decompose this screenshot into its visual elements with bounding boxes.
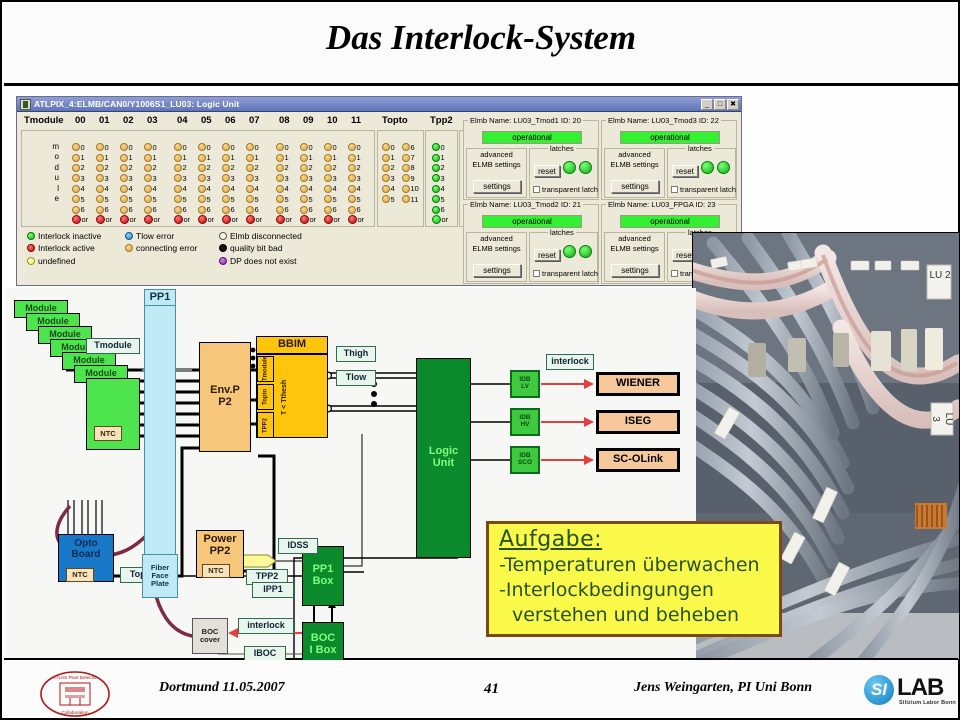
status-dot-label: 1	[105, 153, 109, 162]
status-dot[interactable]	[96, 195, 104, 203]
status-dot[interactable]	[198, 143, 206, 151]
status-dot[interactable]	[382, 164, 390, 172]
status-dot[interactable]	[402, 143, 410, 151]
status-dot-cell[interactable]: 4	[144, 184, 166, 194]
or-indicator[interactable]: or	[432, 215, 448, 224]
status-dot[interactable]	[174, 164, 182, 172]
status-dot-label: 6	[129, 205, 133, 214]
status-dot-cell[interactable]: 5	[276, 194, 298, 204]
status-dot-cell[interactable]: 0	[324, 142, 346, 152]
tmodule-or-indicator[interactable]: or	[198, 215, 214, 224]
status-dot[interactable]	[174, 154, 182, 162]
status-dot-cell[interactable]: 5	[324, 194, 346, 204]
status-dot[interactable]	[324, 206, 332, 214]
status-dot[interactable]	[348, 185, 356, 193]
status-dot-cell[interactable]: 2	[198, 163, 220, 173]
status-dot-label: 9	[411, 174, 415, 183]
status-dot-cell[interactable]: 2	[120, 163, 142, 173]
status-dot-cell[interactable]: 4	[222, 184, 244, 194]
status-dot-cell[interactable]: 6	[198, 204, 220, 214]
status-dot[interactable]	[348, 206, 356, 214]
aufgabe-line-2: -Interlockbedingungen	[499, 578, 771, 603]
status-dot-cell[interactable]: 1	[96, 152, 118, 162]
status-dot-cell[interactable]: 6	[174, 204, 196, 214]
status-dot-cell[interactable]: 5	[198, 194, 220, 204]
status-dot-cell[interactable]: 4	[324, 184, 346, 194]
status-dot[interactable]	[402, 164, 410, 172]
latch-leds	[563, 245, 592, 258]
status-dot[interactable]	[276, 215, 285, 224]
status-dot[interactable]	[300, 143, 308, 151]
status-dot[interactable]	[246, 143, 254, 151]
tmodule-or-indicator[interactable]: or	[324, 215, 340, 224]
status-dot-cell[interactable]: 3	[276, 173, 298, 183]
status-dot-cell[interactable]: 10	[402, 184, 424, 194]
status-dot[interactable]	[324, 143, 332, 151]
status-dot-cell[interactable]: 8	[402, 163, 424, 173]
status-dot[interactable]	[222, 215, 231, 224]
status-dot-cell[interactable]: 3	[144, 173, 166, 183]
status-dot[interactable]	[276, 206, 284, 214]
status-dot-cell[interactable]: 2	[96, 163, 118, 173]
status-dot[interactable]	[96, 185, 104, 193]
status-dot[interactable]	[72, 154, 80, 162]
reset-button[interactable]: reset	[534, 165, 560, 177]
advanced-label-line2: ELMB settings	[467, 244, 526, 253]
status-dot-cell[interactable]: 1	[198, 152, 220, 162]
status-dot[interactable]	[276, 185, 284, 193]
status-dot[interactable]	[276, 164, 284, 172]
ffp-label-3: Plate	[151, 580, 169, 588]
status-dot-cell[interactable]: 3	[348, 173, 370, 183]
status-dot-cell[interactable]: 1	[324, 152, 346, 162]
status-dot[interactable]	[144, 164, 152, 172]
legend-label: Elmb disconnected	[230, 231, 302, 241]
status-dot-cell[interactable]: 2	[300, 163, 322, 173]
status-dot[interactable]	[120, 215, 129, 224]
status-dot[interactable]	[382, 143, 390, 151]
status-dot-cell[interactable]: 4	[276, 184, 298, 194]
bbim-threshold-label: T < Tthesh	[276, 356, 293, 438]
status-dot-label: 6	[441, 205, 445, 214]
status-dot[interactable]	[432, 154, 440, 162]
status-dot-cell[interactable]: 0	[276, 142, 298, 152]
status-dot[interactable]	[432, 174, 440, 182]
status-dot[interactable]	[246, 164, 254, 172]
status-dot-cell[interactable]: 3	[96, 173, 118, 183]
status-dot[interactable]	[222, 164, 230, 172]
settings-button[interactable]: settings	[611, 264, 659, 277]
status-dot[interactable]	[300, 195, 308, 203]
status-dot-cell[interactable]: 4	[72, 184, 94, 194]
status-dot-cell[interactable]: 4	[174, 184, 196, 194]
transparent-latch-checkbox[interactable]	[533, 270, 540, 277]
status-dot-cell[interactable]: 0	[174, 142, 196, 152]
status-dot-cell[interactable]: 3	[300, 173, 322, 183]
advanced-label-line1: advanced	[605, 234, 664, 243]
status-dot[interactable]	[120, 195, 128, 203]
status-dot[interactable]	[300, 206, 308, 214]
status-dot[interactable]	[222, 174, 230, 182]
status-dot[interactable]	[120, 164, 128, 172]
status-dot-cell[interactable]: 1	[300, 152, 322, 162]
status-dot[interactable]	[198, 185, 206, 193]
minimize-icon[interactable]: _	[701, 99, 713, 110]
status-dot[interactable]	[120, 185, 128, 193]
status-dot[interactable]	[432, 185, 440, 193]
status-dot-label: 1	[285, 153, 289, 162]
latch-led[interactable]	[579, 161, 592, 174]
tmodule-or-indicator[interactable]: or	[276, 215, 292, 224]
status-dot-cell[interactable]: 2	[144, 163, 166, 173]
status-dot-cell[interactable]: 5	[120, 194, 142, 204]
status-dot[interactable]	[348, 154, 356, 162]
aufgabe-title: Aufgabe:	[499, 527, 771, 553]
status-dot[interactable]	[276, 154, 284, 162]
status-dot-cell[interactable]: 1	[120, 152, 142, 162]
latch-led[interactable]	[717, 161, 730, 174]
pp1-box: PP1 Box	[302, 546, 344, 606]
status-dot[interactable]	[120, 154, 128, 162]
status-dot[interactable]	[222, 154, 230, 162]
settings-button[interactable]: settings	[611, 180, 659, 193]
status-dot-cell[interactable]: 0	[198, 142, 220, 152]
reset-button[interactable]: reset	[534, 249, 560, 261]
status-dot-cell[interactable]: 4	[246, 184, 268, 194]
status-dot[interactable]	[402, 174, 410, 182]
transparent-latch-checkbox[interactable]	[671, 270, 678, 277]
status-dot-cell[interactable]: 1	[432, 152, 454, 162]
status-dot[interactable]	[198, 206, 206, 214]
footer-date: Dortmund 11.05.2007	[159, 680, 285, 696]
status-dot[interactable]	[198, 154, 206, 162]
footer-page-number: 41	[484, 681, 499, 698]
status-dot[interactable]	[96, 164, 104, 172]
status-dot[interactable]	[432, 195, 440, 203]
status-dot-cell[interactable]: 3	[72, 173, 94, 183]
status-dot-cell[interactable]: 2	[276, 163, 298, 173]
window-controls[interactable]: _ □ ✖	[701, 99, 739, 110]
status-dot[interactable]	[120, 206, 128, 214]
status-dot[interactable]	[324, 174, 332, 182]
status-dot[interactable]	[324, 154, 332, 162]
status-dot-cell[interactable]: 6	[246, 204, 268, 214]
status-dot[interactable]	[222, 143, 230, 151]
status-dot[interactable]	[246, 185, 254, 193]
status-dot[interactable]	[120, 174, 128, 182]
tmodule-or-indicator[interactable]: or	[72, 215, 88, 224]
status-dot[interactable]	[144, 195, 152, 203]
status-dot-cell[interactable]: 5	[144, 194, 166, 204]
status-dot[interactable]	[348, 195, 356, 203]
status-dot-cell[interactable]: 2	[348, 163, 370, 173]
status-dot-cell[interactable]: 6	[222, 204, 244, 214]
status-dot-cell[interactable]: 3	[198, 173, 220, 183]
status-dot[interactable]	[432, 215, 441, 224]
status-dot-cell[interactable]: 1	[246, 152, 268, 162]
status-dot[interactable]	[382, 154, 390, 162]
status-dot-cell[interactable]: 5	[432, 194, 454, 204]
status-dot-label: 0	[81, 143, 85, 152]
status-dot[interactable]	[222, 185, 230, 193]
status-dot-cell[interactable]: 3	[432, 173, 454, 183]
row-letter: l	[48, 184, 59, 194]
status-dot[interactable]	[72, 206, 80, 214]
status-dot-cell[interactable]: 5	[222, 194, 244, 204]
status-dot-label: 4	[255, 184, 259, 193]
status-dot[interactable]	[432, 143, 440, 151]
settings-button[interactable]: settings	[473, 180, 521, 193]
transparent-latch-row[interactable]: transparent latch	[671, 185, 736, 194]
status-dot[interactable]	[174, 174, 182, 182]
status-dot[interactable]	[144, 215, 153, 224]
status-dot[interactable]	[300, 185, 308, 193]
transparent-latch-row[interactable]: transparent latch	[533, 185, 598, 194]
status-dot-cell[interactable]: 7	[402, 152, 424, 162]
advanced-elmb-settings-group: advancedELMB settingssettings	[466, 148, 527, 198]
status-dot[interactable]	[72, 164, 80, 172]
status-dot-cell[interactable]: 4	[96, 184, 118, 194]
status-dot-cell[interactable]: 4	[432, 184, 454, 194]
transparent-latch-row[interactable]: transparent latch	[533, 269, 598, 278]
status-dot[interactable]	[174, 215, 183, 224]
status-dot-cell[interactable]: 4	[198, 184, 220, 194]
status-dot[interactable]	[174, 143, 182, 151]
status-dot[interactable]	[144, 174, 152, 182]
tmodule-or-indicator[interactable]: or	[222, 215, 238, 224]
status-dot-cell[interactable]: 3	[382, 173, 404, 183]
window-titlebar[interactable]: ATLPIX_4:ELMB/CAN0/Y1006S1_LU03: Logic U…	[17, 97, 741, 112]
status-dot[interactable]	[222, 206, 230, 214]
latch-led[interactable]	[579, 245, 592, 258]
status-dot[interactable]	[246, 195, 254, 203]
status-dot-label: 0	[391, 143, 395, 152]
or-label: or	[130, 215, 137, 224]
status-dot[interactable]	[300, 154, 308, 162]
logic-unit-box: Logic Unit	[416, 358, 471, 558]
status-dot[interactable]	[324, 164, 332, 172]
status-dot-cell[interactable]: 2	[382, 163, 404, 173]
tmodule-or-indicator[interactable]: or	[246, 215, 262, 224]
status-dot[interactable]	[96, 206, 104, 214]
status-dot[interactable]	[144, 185, 152, 193]
status-dot-cell[interactable]: 1	[222, 152, 244, 162]
tmodule-or-indicator[interactable]: or	[300, 215, 316, 224]
aufgabe-line-1: -Temperaturen überwachen	[499, 553, 771, 578]
status-dot-cell[interactable]: 5	[348, 194, 370, 204]
tmodule-or-indicator[interactable]: or	[174, 215, 190, 224]
status-dot-cell[interactable]: 0	[96, 142, 118, 152]
status-dot-cell[interactable]: 6	[144, 204, 166, 214]
status-dot[interactable]	[144, 206, 152, 214]
status-dot-cell[interactable]: 6	[300, 204, 322, 214]
transparent-latch-checkbox[interactable]	[533, 186, 540, 193]
status-dot[interactable]	[144, 143, 152, 151]
status-dot[interactable]	[198, 215, 207, 224]
status-dot[interactable]	[222, 195, 230, 203]
status-dot-cell[interactable]: 2	[174, 163, 196, 173]
status-dot-cell[interactable]: 0	[72, 142, 94, 152]
status-dot[interactable]	[348, 215, 357, 224]
status-dot-cell[interactable]: 0	[348, 142, 370, 152]
latch-led[interactable]	[563, 161, 576, 174]
tmodule-or-indicator[interactable]: or	[120, 215, 136, 224]
status-dot-cell[interactable]: 5	[300, 194, 322, 204]
reset-button[interactable]: reset	[672, 165, 698, 177]
status-dot-label: 2	[255, 163, 259, 172]
status-dot-cell[interactable]: 11	[402, 194, 424, 204]
status-dot-cell[interactable]: 1	[144, 152, 166, 162]
status-dot-cell[interactable]: 5	[96, 194, 118, 204]
status-dot[interactable]	[324, 195, 332, 203]
tmodule-or-indicator[interactable]: or	[348, 215, 364, 224]
latch-led[interactable]	[701, 161, 714, 174]
status-dot[interactable]	[96, 215, 105, 224]
status-dot[interactable]	[96, 154, 104, 162]
silab-logo: SI LAB Silizium Labor Bonn	[864, 673, 956, 711]
status-dot[interactable]	[276, 143, 284, 151]
status-dot-cell[interactable]: 1	[348, 152, 370, 162]
status-dot[interactable]	[324, 215, 333, 224]
status-dot[interactable]	[174, 195, 182, 203]
maximize-icon[interactable]: □	[714, 99, 726, 110]
status-dot[interactable]	[72, 185, 80, 193]
advanced-label-line2: ELMB settings	[605, 244, 664, 253]
status-dot[interactable]	[276, 174, 284, 182]
status-dot[interactable]	[246, 174, 254, 182]
logic-unit-window[interactable]: ATLPIX_4:ELMB/CAN0/Y1006S1_LU03: Logic U…	[16, 96, 742, 286]
latch-leds	[563, 161, 592, 174]
status-dot-cell[interactable]: 9	[402, 173, 424, 183]
tmodule-or-indicator[interactable]: or	[144, 215, 160, 224]
status-dot-cell[interactable]: 4	[120, 184, 142, 194]
status-dot-cell[interactable]: 1	[382, 152, 404, 162]
status-dot[interactable]	[432, 164, 440, 172]
status-dot-cell[interactable]: 5	[72, 194, 94, 204]
status-dot-cell[interactable]: 2	[222, 163, 244, 173]
settings-button[interactable]: settings	[473, 264, 521, 277]
status-dot[interactable]	[96, 143, 104, 151]
status-dot[interactable]	[120, 143, 128, 151]
status-dot-cell[interactable]: 5	[246, 194, 268, 204]
status-dot[interactable]	[96, 174, 104, 182]
status-dot-cell[interactable]: 5	[174, 194, 196, 204]
status-dot-cell[interactable]: 3	[222, 173, 244, 183]
status-dot[interactable]	[174, 185, 182, 193]
status-dot[interactable]	[348, 164, 356, 172]
status-dot-cell[interactable]: 2	[72, 163, 94, 173]
status-dot[interactable]	[72, 143, 80, 151]
close-icon[interactable]: ✖	[727, 99, 739, 110]
status-dot[interactable]	[246, 154, 254, 162]
status-dot-cell[interactable]: 0	[382, 142, 404, 152]
or-label: or	[154, 215, 161, 224]
status-dot[interactable]	[144, 154, 152, 162]
status-dot-cell[interactable]: 6	[402, 142, 424, 152]
status-dot-cell[interactable]: 0	[246, 142, 268, 152]
status-dot-cell[interactable]: 4	[300, 184, 322, 194]
status-dot[interactable]	[276, 195, 284, 203]
status-dot-cell[interactable]: 0	[120, 142, 142, 152]
legend-column-1: Interlock inactiveInterlock activeundefi…	[27, 230, 101, 268]
status-dot[interactable]	[348, 174, 356, 182]
status-dot[interactable]	[300, 164, 308, 172]
status-dot-label: 3	[231, 174, 235, 183]
status-dot[interactable]	[174, 206, 182, 214]
status-dot[interactable]	[300, 215, 309, 224]
status-dot[interactable]	[198, 174, 206, 182]
status-dot-cell[interactable]: 1	[72, 152, 94, 162]
latch-led[interactable]	[563, 245, 576, 258]
status-dot-cell[interactable]: 0	[300, 142, 322, 152]
status-dot[interactable]	[300, 174, 308, 182]
opto-board-label-1: Opto	[74, 539, 97, 550]
status-dot-label: 1	[357, 153, 361, 162]
status-dot-cell[interactable]: 3	[174, 173, 196, 183]
status-dot[interactable]	[402, 195, 410, 203]
status-dot-cell[interactable]: 1	[174, 152, 196, 162]
status-dot-cell[interactable]: 0	[432, 142, 454, 152]
status-dot-cell[interactable]: 6	[348, 204, 370, 214]
status-dot-cell[interactable]: 6	[96, 204, 118, 214]
status-dot[interactable]	[402, 154, 410, 162]
status-dot-label: 5	[207, 195, 211, 204]
status-dot-label: 5	[105, 195, 109, 204]
status-dot[interactable]	[72, 174, 80, 182]
module-ntc: NTC	[94, 426, 122, 441]
status-dot[interactable]	[382, 185, 390, 193]
advanced-elmb-settings-group: advancedELMB settingssettings	[604, 232, 665, 282]
status-dot-label: 3	[391, 174, 395, 183]
status-dot[interactable]	[382, 174, 390, 182]
status-dot[interactable]	[246, 206, 254, 214]
status-dot[interactable]	[432, 206, 440, 214]
status-dot[interactable]	[246, 215, 255, 224]
status-dot[interactable]	[72, 195, 80, 203]
status-dot-cell[interactable]: 2	[246, 163, 268, 173]
status-dot-cell[interactable]: 0	[222, 142, 244, 152]
status-dot-cell[interactable]: 4	[382, 184, 404, 194]
transparent-latch-checkbox[interactable]	[671, 186, 678, 193]
col-header-tpp2: Tpp2	[430, 115, 453, 127]
status-dot-cell[interactable]: 3	[324, 173, 346, 183]
status-dot-cell[interactable]: 2	[432, 163, 454, 173]
status-dot[interactable]	[72, 215, 81, 224]
status-dot-cell[interactable]: 3	[120, 173, 142, 183]
col-header: 05	[201, 115, 212, 127]
status-dot-cell[interactable]: 6	[72, 204, 94, 214]
status-dot-cell[interactable]: 2	[324, 163, 346, 173]
status-dot[interactable]	[198, 164, 206, 172]
status-dot-cell[interactable]: 6	[324, 204, 346, 214]
status-dot-cell[interactable]: 0	[144, 142, 166, 152]
status-dot[interactable]	[348, 143, 356, 151]
status-dot[interactable]	[382, 195, 390, 203]
status-dot-cell[interactable]: 1	[276, 152, 298, 162]
status-dot[interactable]	[324, 185, 332, 193]
status-dot-cell[interactable]: 4	[348, 184, 370, 194]
app-icon	[20, 99, 31, 110]
tmodule-or-indicator[interactable]: or	[96, 215, 112, 224]
status-dot[interactable]	[198, 195, 206, 203]
status-dot-cell[interactable]: 3	[246, 173, 268, 183]
latches-title: latches	[548, 144, 576, 153]
status-dot[interactable]	[402, 185, 410, 193]
status-dot-cell[interactable]: 6	[120, 204, 142, 214]
status-dot-cell[interactable]: 6	[432, 204, 454, 214]
status-dot-cell[interactable]: 6	[276, 204, 298, 214]
status-dot-cell[interactable]: 5	[382, 194, 404, 204]
